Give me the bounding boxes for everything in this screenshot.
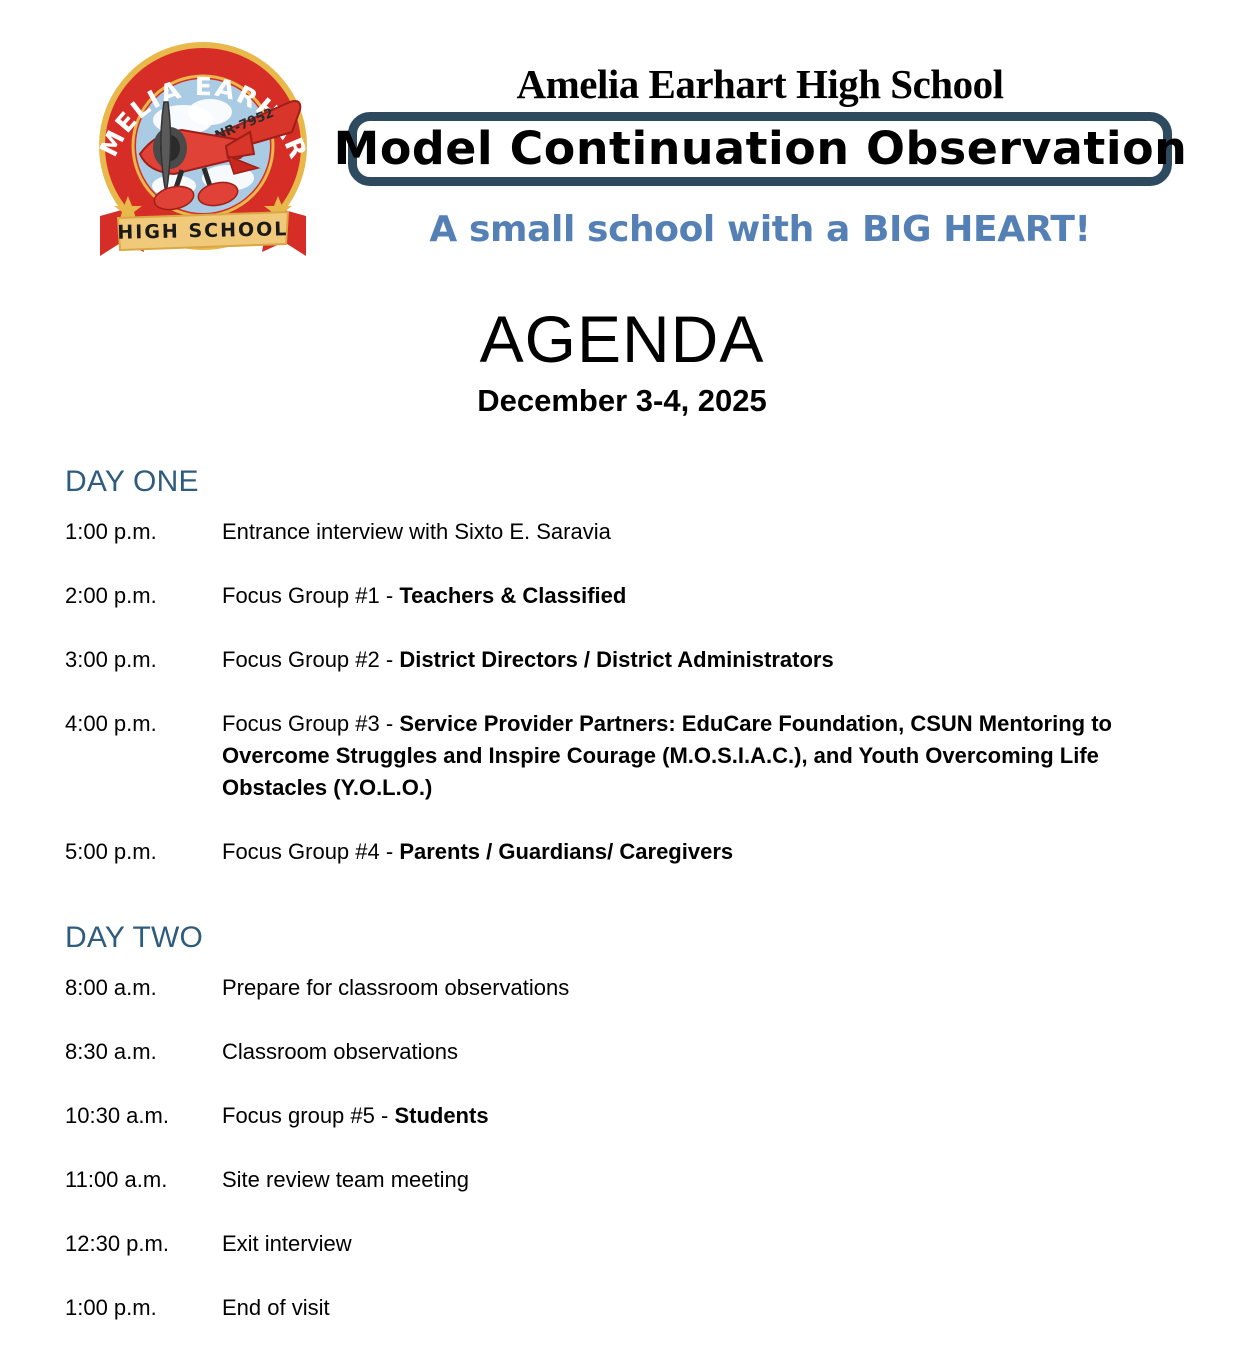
- agenda-row-time: 2:00 p.m.: [65, 580, 222, 612]
- agenda-row: 1:00 p.m.Entrance interview with Sixto E…: [0, 516, 1244, 548]
- agenda-row-plain-text: Entrance interview with Sixto E. Saravia: [222, 519, 611, 544]
- program-title-box: Model Continuation Observation: [348, 112, 1172, 186]
- agenda-date: December 3-4, 2025: [0, 382, 1244, 420]
- agenda-row-plain-text: Focus Group #1 -: [222, 583, 399, 608]
- agenda-row-description: Focus Group #2 - District Directors / Di…: [222, 644, 1157, 676]
- agenda-row-time: 1:00 p.m.: [65, 1292, 222, 1324]
- agenda-row-description: Prepare for classroom observations: [222, 972, 1157, 1004]
- agenda-row-plain-text: Focus Group #4 -: [222, 839, 399, 864]
- agenda-row-description: Entrance interview with Sixto E. Saravia: [222, 516, 1157, 548]
- agenda-row-description: Focus group #5 - Students: [222, 1100, 1157, 1132]
- agenda-row-description: Site review team meeting: [222, 1164, 1157, 1196]
- agenda-row-time: 5:00 p.m.: [65, 836, 222, 868]
- agenda-row-description: Focus Group #4 - Parents / Guardians/ Ca…: [222, 836, 1157, 868]
- agenda-row: 12:30 p.m.Exit interview: [0, 1228, 1244, 1260]
- day-one-section: DAY ONE 1:00 p.m.Entrance interview with…: [0, 464, 1244, 868]
- agenda-row-bold-text: Teachers & Classified: [399, 583, 626, 608]
- agenda-row-plain-text: Focus Group #3 -: [222, 711, 399, 736]
- school-name: Amelia Earhart High School: [340, 60, 1180, 108]
- agenda-row: 8:00 a.m.Prepare for classroom observati…: [0, 972, 1244, 1004]
- day-one-heading: DAY ONE: [65, 464, 1244, 500]
- logo-ribbon-text: HIGH SCHOOL: [117, 218, 288, 244]
- agenda-row: 3:00 p.m.Focus Group #2 - District Direc…: [0, 644, 1244, 676]
- agenda-row-time: 12:30 p.m.: [65, 1228, 222, 1260]
- agenda-row-plain-text: Prepare for classroom observations: [222, 975, 569, 1000]
- day-two-list: 8:00 a.m.Prepare for classroom observati…: [0, 972, 1244, 1324]
- agenda-row-description: Exit interview: [222, 1228, 1157, 1260]
- school-logo: AMELIA EARHART NR-7952: [78, 28, 328, 278]
- agenda-row-time: 4:00 p.m.: [65, 708, 222, 740]
- agenda-row-description: Classroom observations: [222, 1036, 1157, 1068]
- agenda-row-plain-text: Focus group #5 -: [222, 1103, 394, 1128]
- agenda-row-time: 11:00 a.m.: [65, 1164, 222, 1196]
- agenda-row-time: 8:00 a.m.: [65, 972, 222, 1004]
- agenda-row-description: Focus Group #3 - Service Provider Partne…: [222, 708, 1157, 804]
- agenda-row-bold-text: Parents / Guardians/ Caregivers: [399, 839, 733, 864]
- agenda-row: 8:30 a.m.Classroom observations: [0, 1036, 1244, 1068]
- agenda-row: 4:00 p.m.Focus Group #3 - Service Provid…: [0, 708, 1244, 804]
- agenda-row: 5:00 p.m.Focus Group #4 - Parents / Guar…: [0, 836, 1244, 868]
- agenda-row-plain-text: End of visit: [222, 1295, 330, 1320]
- agenda-row-time: 10:30 a.m.: [65, 1100, 222, 1132]
- agenda-row-plain-text: Focus Group #2 -: [222, 647, 399, 672]
- day-one-list: 1:00 p.m.Entrance interview with Sixto E…: [0, 516, 1244, 868]
- agenda-row-plain-text: Exit interview: [222, 1231, 352, 1256]
- agenda-row-time: 1:00 p.m.: [65, 516, 222, 548]
- document-header: AMELIA EARHART NR-7952: [0, 0, 1244, 280]
- agenda-row-description: End of visit: [222, 1292, 1157, 1324]
- agenda-row: 10:30 a.m.Focus group #5 - Students: [0, 1100, 1244, 1132]
- agenda-row-plain-text: Site review team meeting: [222, 1167, 469, 1192]
- day-two-section: DAY TWO 8:00 a.m.Prepare for classroom o…: [0, 920, 1244, 1324]
- agenda-row-time: 3:00 p.m.: [65, 644, 222, 676]
- agenda-row-time: 8:30 a.m.: [65, 1036, 222, 1068]
- agenda-row: 2:00 p.m.Focus Group #1 - Teachers & Cla…: [0, 580, 1244, 612]
- agenda-row-bold-text: Students: [394, 1103, 488, 1128]
- agenda-row-bold-text: District Directors / District Administra…: [399, 647, 833, 672]
- page-title: AGENDA: [0, 302, 1244, 376]
- program-title: Model Continuation Observation: [333, 124, 1187, 174]
- agenda-row-plain-text: Classroom observations: [222, 1039, 458, 1064]
- agenda-row: 11:00 a.m.Site review team meeting: [0, 1164, 1244, 1196]
- agenda-row-description: Focus Group #1 - Teachers & Classified: [222, 580, 1157, 612]
- day-two-heading: DAY TWO: [65, 920, 1244, 956]
- school-tagline: A small school with a BIG HEART!: [340, 208, 1180, 252]
- agenda-row: 1:00 p.m.End of visit: [0, 1292, 1244, 1324]
